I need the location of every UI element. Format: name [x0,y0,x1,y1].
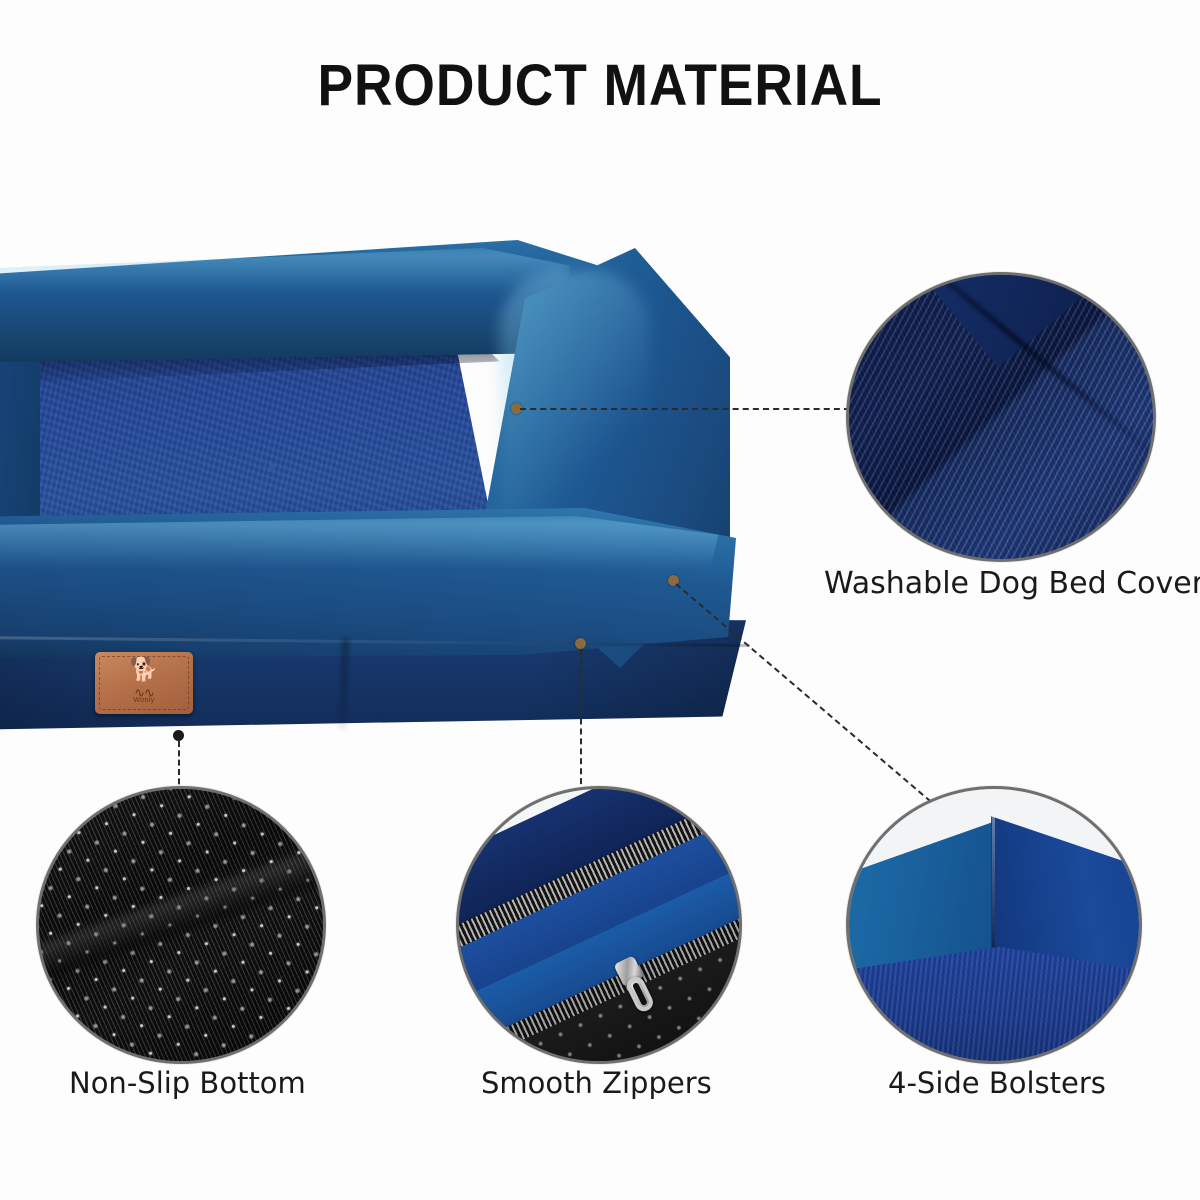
callout-label-non-slip-bottom: Non-Slip Bottom [69,1066,306,1100]
leader-line-washable-cover [520,408,850,410]
bolster-corner-fur-floor [846,947,1142,1064]
brand-wordmark: Wonly [95,697,193,704]
callout-4-side-bolsters[interactable] [846,786,1142,1064]
infographic-stage: 🐕 ∿∿ Wonly Washable Dog Bed Cover Non-Sl… [0,0,1200,1200]
callout-smooth-zippers[interactable] [456,786,742,1064]
bolster-corner-icon [846,786,1142,1064]
dotted-grip-fabric-icon [36,786,326,1064]
callout-washable-cover[interactable] [846,272,1156,562]
wave-lines-icon: ∿∿ [134,685,154,701]
callout-label-smooth-zippers: Smooth Zippers [481,1066,712,1100]
anchor-dot-non-slip [173,730,184,741]
bolster-corner-seam [992,813,995,954]
zipper-icon [456,786,742,1064]
callout-label-4-side-bolsters: 4-Side Bolsters [888,1066,1106,1100]
plush-fur-swatch-icon [846,272,1156,562]
brand-leather-tag: 🐕 ∿∿ Wonly [95,652,193,714]
anchor-dot-zippers [575,638,586,649]
leader-line-zippers [580,649,582,804]
dog-head-icon: 🐕 [95,658,193,681]
callout-label-washable-cover: Washable Dog Bed Cover [824,566,1200,601]
bolster-back-highlight [0,248,570,292]
callout-non-slip-bottom[interactable] [36,786,326,1064]
